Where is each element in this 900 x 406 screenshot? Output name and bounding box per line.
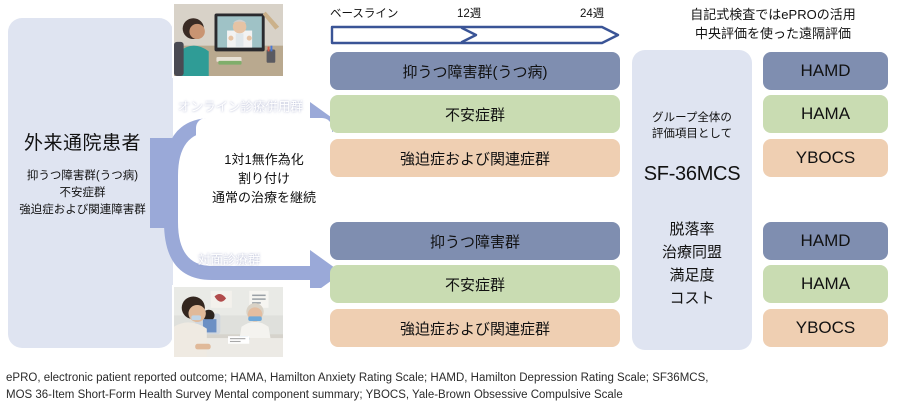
overall-outcomes-heading-line-2: 評価項目として (632, 126, 752, 142)
telemedicine-photo (172, 2, 285, 78)
population-item-depression: 抑うつ障害群(うつ病) (4, 168, 161, 185)
randomization-line-3: 通常の治療を継続 (196, 188, 332, 207)
group-box-top-anxiety: 不安症群 (330, 95, 620, 133)
scale-box-bottom-ybocs: YBOCS (763, 309, 888, 347)
patient-population-subtitle: 抑うつ障害群(うつ病) 不安症群 強迫症および関連障害群 (4, 168, 161, 219)
footnote-line-2: MOS 36-Item Short-Form Health Survey Men… (6, 387, 896, 404)
in-person-consultation-photo (172, 285, 285, 359)
group-box-top-depression: 抑うつ障害群(うつ病) (330, 52, 620, 90)
scale-box-bottom-hamd: HAMD (763, 222, 888, 260)
arm-label-inperson: 対面診療群 (198, 249, 261, 268)
footnote-line-1: ePRO, electronic patient reported outcom… (6, 370, 896, 387)
group-box-bottom-depression: 抑うつ障害群 (330, 222, 620, 260)
study-flow-diagram: 外来通院患者 抑うつ障害群(うつ病) 不安症群 強迫症および関連障害群 (0, 0, 900, 406)
arm-label-online: オンライン診療併用群 (178, 96, 303, 115)
assessment-method-line-2: 中央評価を使った遠隔評価 (648, 24, 898, 43)
assessment-method-line-1: 自記式検査ではePROの活用 (648, 5, 898, 24)
secondary-outcome-alliance: 治療同盟 (632, 241, 752, 264)
scale-box-top-hama: HAMA (763, 95, 888, 133)
secondary-outcomes-list: 脱落率 治療同盟 満足度 コスト (632, 218, 752, 310)
timeline-label-week24: 24週 (580, 5, 604, 21)
secondary-outcome-satisfaction: 満足度 (632, 264, 752, 287)
group-box-bottom-anxiety: 不安症群 (330, 265, 620, 303)
scale-box-top-hamd: HAMD (763, 52, 888, 90)
randomization-line-2: 割り付け (196, 169, 332, 188)
scale-box-top-ybocs: YBOCS (763, 139, 888, 177)
abbreviations-footnote: ePRO, electronic patient reported outcom… (6, 370, 896, 403)
timeline-arrow (330, 24, 620, 46)
timeline-label-baseline: ベースライン (330, 5, 398, 21)
population-item-anxiety: 不安症群 (4, 185, 161, 202)
secondary-outcome-cost: コスト (632, 287, 752, 310)
timeline-labels: ベースライン 12週 24週 (330, 5, 620, 23)
randomization-line-1: 1対1無作為化 (196, 150, 332, 169)
secondary-outcome-dropout: 脱落率 (632, 218, 752, 241)
scale-box-bottom-hama: HAMA (763, 265, 888, 303)
overall-outcomes-heading: グループ全体の 評価項目として (632, 110, 752, 142)
timeline-label-week12: 12週 (457, 5, 481, 21)
population-item-ocd: 強迫症および関連障害群 (4, 202, 161, 219)
group-box-top-ocd: 強迫症および関連症群 (330, 139, 620, 177)
patient-population-title: 外来通院患者 (8, 128, 157, 155)
overall-outcomes-heading-line-1: グループ全体の (632, 110, 752, 126)
group-box-bottom-ocd: 強迫症および関連症群 (330, 309, 620, 347)
primary-outcome-label: SF-36MCS (632, 163, 752, 186)
assessment-method-note: 自記式検査ではePROの活用 中央評価を使った遠隔評価 (648, 5, 898, 43)
randomization-text: 1対1無作為化 割り付け 通常の治療を継続 (196, 150, 332, 207)
